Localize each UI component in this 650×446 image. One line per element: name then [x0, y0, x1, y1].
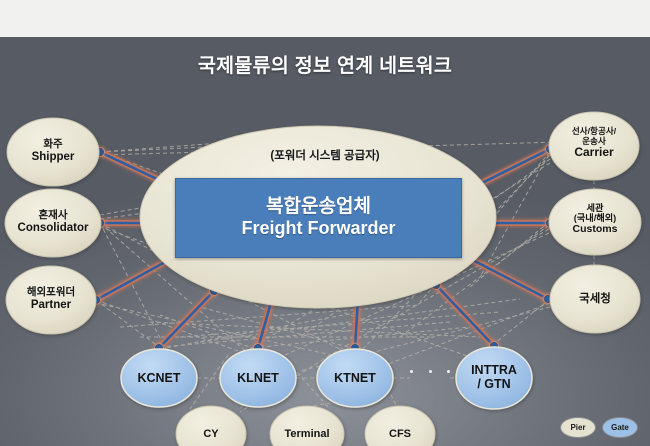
node-cfs[interactable] — [365, 406, 435, 446]
legend-item-pier[interactable]: Pier — [560, 417, 596, 438]
diagram-title: 국제물류의 정보 연계 네트워크 — [0, 49, 650, 78]
node-national-tax-service[interactable] — [550, 265, 640, 333]
node-shipper[interactable] — [7, 118, 99, 186]
node-inttra-gtn[interactable] — [456, 347, 532, 409]
node-klnet[interactable] — [220, 349, 296, 407]
node-partner[interactable] — [6, 266, 96, 334]
legend-item-gate[interactable]: Gate — [602, 417, 638, 438]
ellipsis-indicator — [410, 370, 450, 373]
freight-forwarder-name-ko: 복합운송업체 — [266, 196, 371, 218]
legend: Pier Gate — [560, 417, 638, 438]
node-ktnet[interactable] — [317, 349, 393, 407]
diagram-panel: 국제물류의 정보 연계 네트워크 (포워더 시스템 공급자) 복합운송업체 Fr… — [0, 37, 650, 446]
node-carrier[interactable] — [549, 112, 639, 180]
node-kcnet[interactable] — [121, 349, 197, 407]
node-cy[interactable] — [176, 406, 246, 446]
forwarder-system-subtitle: (포워더 시스템 공급자) — [190, 147, 460, 163]
node-consolidator[interactable] — [5, 189, 101, 257]
freight-forwarder-name-en: Freight Forwarder — [241, 218, 395, 240]
freight-forwarder-box[interactable]: 복합운송업체 Freight Forwarder — [175, 178, 462, 258]
node-terminal[interactable] — [270, 406, 344, 446]
screenshot-root: 국제물류의 정보 연계 네트워크 (포워더 시스템 공급자) 복합운송업체 Fr… — [0, 0, 650, 446]
node-customs[interactable] — [549, 189, 641, 255]
